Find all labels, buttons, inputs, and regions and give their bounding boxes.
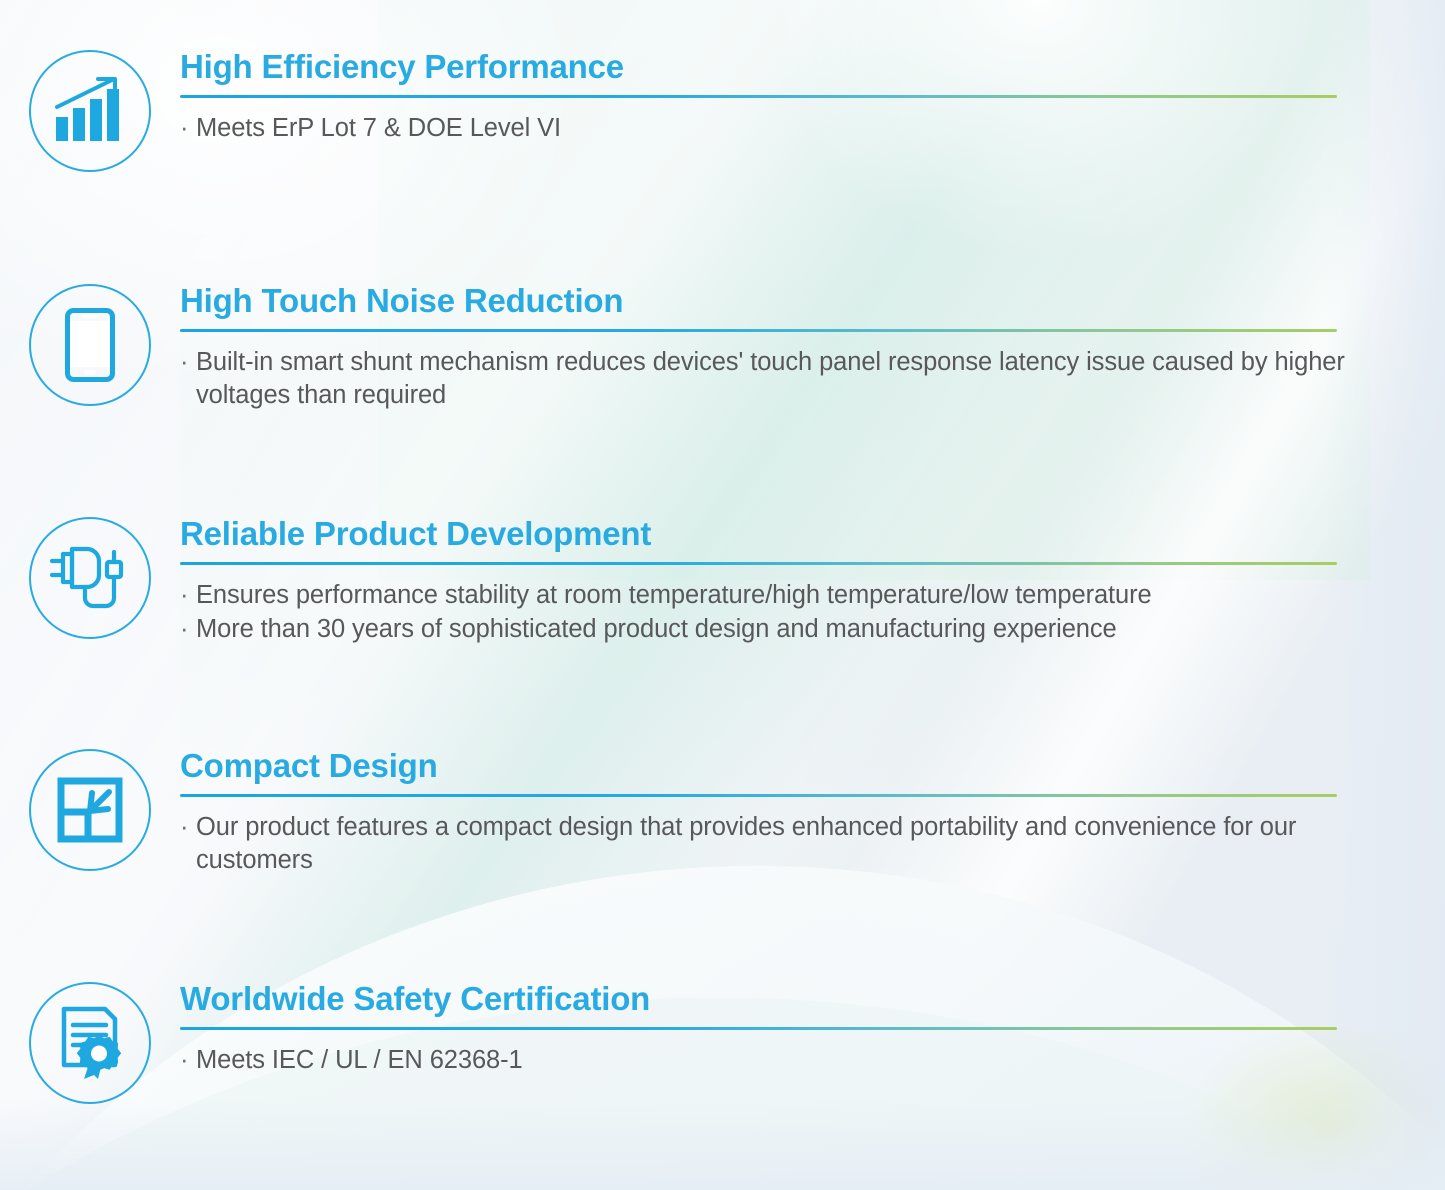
feature-text-block: High Touch Noise Reduction · Built-in sm… xyxy=(180,280,1445,413)
feature-bullet: · Meets ErP Lot 7 & DOE Level VI xyxy=(180,112,1369,146)
feature-bullet-list: · Meets IEC / UL / EN 62368-1 xyxy=(180,1044,1369,1078)
feature-divider xyxy=(180,1027,1337,1030)
feature-item-high-touch-noise-reduction: High Touch Noise Reduction · Built-in sm… xyxy=(0,280,1445,413)
certificate-award-icon xyxy=(29,982,151,1104)
feature-icon-container xyxy=(0,978,180,1104)
bullet-marker: · xyxy=(180,1044,196,1078)
feature-item-worldwide-safety-certification: Worldwide Safety Certification · Meets I… xyxy=(0,978,1445,1104)
feature-title: Reliable Product Development xyxy=(180,515,1369,553)
feature-list: High Efficiency Performance · Meets ErP … xyxy=(0,0,1445,1190)
feature-divider xyxy=(180,794,1337,797)
bullet-marker: · xyxy=(180,579,196,613)
feature-bullet: · Ensures performance stability at room … xyxy=(180,579,1369,613)
feature-bullet: · Built-in smart shunt mechanism reduces… xyxy=(180,346,1369,413)
bullet-text: Ensures performance stability at room te… xyxy=(196,579,1369,613)
bullet-marker: · xyxy=(180,811,196,878)
shrink-to-fit-icon xyxy=(29,749,151,871)
feature-item-high-efficiency-performance: High Efficiency Performance · Meets ErP … xyxy=(0,46,1445,172)
feature-bullet-list: · Meets ErP Lot 7 & DOE Level VI xyxy=(180,112,1369,146)
feature-title: Compact Design xyxy=(180,747,1369,785)
bullet-text: Meets IEC / UL / EN 62368-1 xyxy=(196,1044,1369,1078)
feature-text-block: High Efficiency Performance · Meets ErP … xyxy=(180,46,1445,145)
feature-title: Worldwide Safety Certification xyxy=(180,980,1369,1018)
feature-icon-container xyxy=(0,46,180,172)
feature-bullet: · More than 30 years of sophisticated pr… xyxy=(180,613,1369,647)
bar-chart-growth-icon xyxy=(29,50,151,172)
feature-divider xyxy=(180,562,1337,565)
feature-bullet-list: · Built-in smart shunt mechanism reduces… xyxy=(180,346,1369,413)
bullet-marker: · xyxy=(180,346,196,413)
feature-title: High Efficiency Performance xyxy=(180,48,1369,86)
feature-bullet: · Our product features a compact design … xyxy=(180,811,1369,878)
feature-icon-container xyxy=(0,745,180,871)
bullet-marker: · xyxy=(180,112,196,146)
feature-text-block: Worldwide Safety Certification · Meets I… xyxy=(180,978,1445,1077)
smartphone-icon xyxy=(29,284,151,406)
feature-divider xyxy=(180,329,1337,332)
feature-bullet-list: · Ensures performance stability at room … xyxy=(180,579,1369,647)
bullet-text: Our product features a compact design th… xyxy=(196,811,1369,878)
feature-icon-container xyxy=(0,280,180,406)
feature-item-compact-design: Compact Design · Our product features a … xyxy=(0,745,1445,878)
bullet-text: Meets ErP Lot 7 & DOE Level VI xyxy=(196,112,1369,146)
power-adapter-icon xyxy=(29,517,151,639)
bullet-marker: · xyxy=(180,613,196,647)
feature-icon-container xyxy=(0,513,180,639)
feature-divider xyxy=(180,95,1337,98)
feature-title: High Touch Noise Reduction xyxy=(180,282,1369,320)
feature-text-block: Reliable Product Development · Ensures p… xyxy=(180,513,1445,647)
bullet-text: More than 30 years of sophisticated prod… xyxy=(196,613,1369,647)
bullet-text: Built-in smart shunt mechanism reduces d… xyxy=(196,346,1369,413)
feature-text-block: Compact Design · Our product features a … xyxy=(180,745,1445,878)
feature-item-reliable-product-development: Reliable Product Development · Ensures p… xyxy=(0,513,1445,647)
feature-bullet: · Meets IEC / UL / EN 62368-1 xyxy=(180,1044,1369,1078)
feature-bullet-list: · Our product features a compact design … xyxy=(180,811,1369,878)
